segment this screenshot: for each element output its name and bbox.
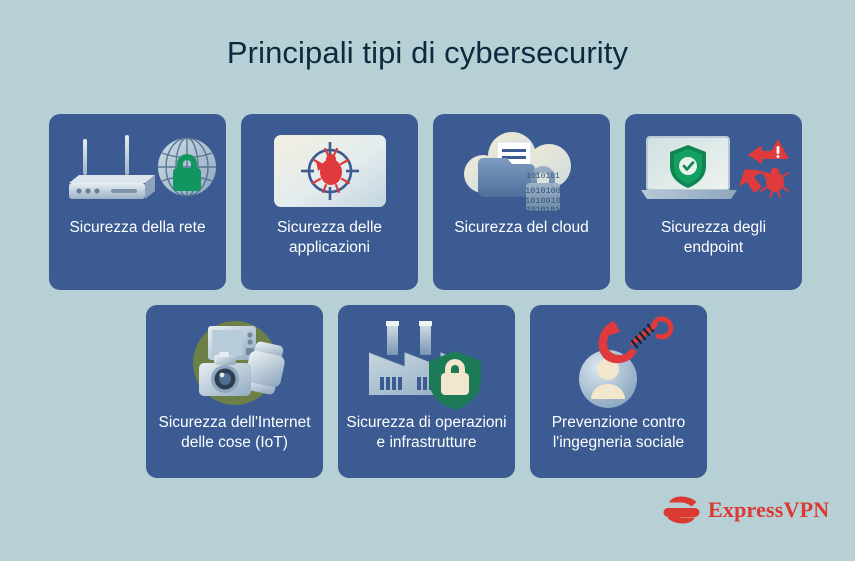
binary-text: 1010101 [526, 206, 560, 215]
laptop-shield-threats-icon [634, 128, 794, 214]
card-label: Sicurezza degli endpoint [625, 218, 802, 258]
phishing-hook-person-icon [539, 317, 699, 409]
card-label: Sicurezza della rete [61, 218, 213, 238]
factory-shield-lock-icon [347, 317, 507, 409]
screen-crosshair-bug-icon [250, 128, 410, 214]
cards-row-top: Sicurezza della rete [49, 114, 802, 290]
infographic-root: Principali tipi di cybersecurity [0, 0, 855, 561]
card-cloud-security[interactable]: 1010101 1010100 1010010 1010101 Sicurezz… [433, 114, 610, 290]
router-globe-lock-icon [58, 128, 218, 214]
card-operations-infrastructure-security[interactable]: Sicurezza di operazioni e infrastrutture [338, 305, 515, 478]
expressvpn-wordmark: ExpressVPN [708, 497, 829, 523]
card-label: Sicurezza del cloud [446, 218, 596, 238]
card-label: Sicurezza delle applicazioni [241, 218, 418, 258]
binary-text: 1010010 [525, 196, 561, 206]
cards-row-bottom: Sicurezza dell'Internet delle cose (IoT) [146, 305, 707, 478]
card-label: Sicurezza dell'Internet delle cose (IoT) [146, 413, 323, 453]
expressvpn-e-mark-icon [665, 496, 699, 524]
card-endpoint-security[interactable]: Sicurezza degli endpoint [625, 114, 802, 290]
cloud-folder-binary-lock-icon: 1010101 1010100 1010010 1010101 [442, 128, 602, 214]
card-application-security[interactable]: Sicurezza delle applicazioni [241, 114, 418, 290]
card-social-engineering-prevention[interactable]: Prevenzione contro l'ingegneria sociale [530, 305, 707, 478]
card-network-security[interactable]: Sicurezza della rete [49, 114, 226, 290]
card-label: Prevenzione contro l'ingegneria sociale [530, 413, 707, 453]
page-title: Principali tipi di cybersecurity [0, 35, 855, 71]
card-iot-security[interactable]: Sicurezza dell'Internet delle cose (IoT) [146, 305, 323, 478]
expressvpn-logo[interactable]: ExpressVPN [665, 496, 829, 524]
card-label: Sicurezza di operazioni e infrastrutture [338, 413, 515, 453]
iot-devices-circle-icon [155, 317, 315, 409]
binary-text: 1010101 [526, 172, 560, 181]
binary-text: 1010100 [525, 186, 561, 196]
